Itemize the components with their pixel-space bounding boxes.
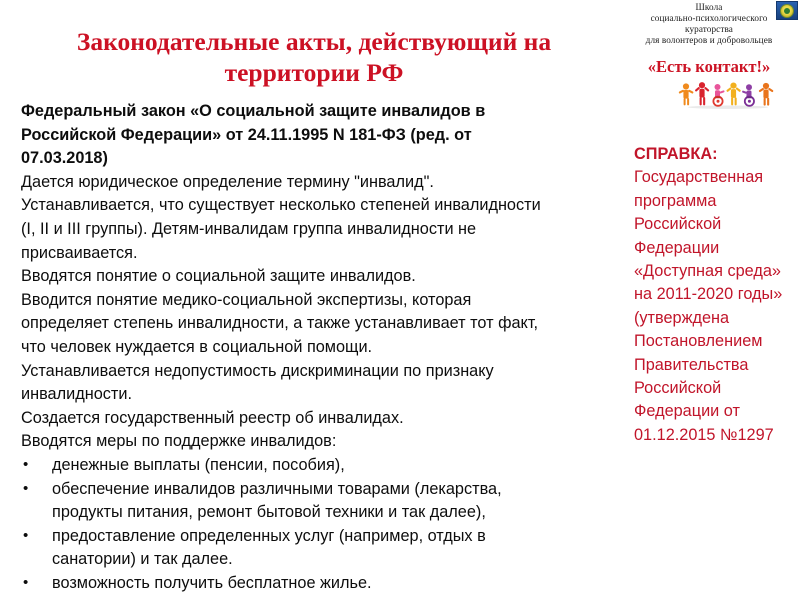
list-item: обеспечение инвалидов различными товарам… — [21, 478, 555, 525]
paragraph-4: Вводится понятие медико-социальной экспе… — [21, 289, 555, 360]
list-item: предоставление определенных услуг (напри… — [21, 525, 555, 572]
school-header-line-2: социально-психологического — [618, 13, 800, 24]
paragraph-2: Устанавливается, что существует нескольк… — [21, 194, 555, 265]
paragraph-7: Вводятся меры по поддержке инвалидов: — [21, 430, 555, 454]
school-header-line-3: кураторства — [618, 24, 800, 35]
slide: Школа социально-психологического куратор… — [0, 0, 800, 600]
body-content: Федеральный закон «О социальной защите и… — [21, 100, 555, 595]
law-heading: Федеральный закон «О социальной защите и… — [21, 100, 555, 171]
paragraph-1: Дается юридическое определение термину "… — [21, 171, 555, 195]
paragraph-6: Создается государственный реестр об инва… — [21, 407, 555, 431]
paragraph-3: Вводятся понятие о социальной защите инв… — [21, 265, 555, 289]
support-measures-list: денежные выплаты (пенсии, пособия), обес… — [21, 454, 555, 596]
page-title: Законодательные акты, действующий на тер… — [18, 26, 610, 88]
reference-label: СПРАВКА: — [634, 145, 718, 163]
list-item: возможность получить бесплатное жилье. — [21, 572, 555, 596]
people-group-illustration — [676, 79, 780, 109]
paragraph-5: Устанавливается недопустимость дискримин… — [21, 360, 555, 407]
school-emblem-icon — [776, 1, 798, 20]
school-header: Школа социально-психологического куратор… — [618, 2, 800, 45]
reference-note: СПРАВКА: Государственная программа Росси… — [634, 143, 794, 447]
list-item: денежные выплаты (пенсии, пособия), — [21, 454, 555, 478]
school-header-line-4: для волонтеров и добровольцев — [618, 35, 800, 46]
school-header-line-1: Школа — [618, 2, 800, 13]
emblem-circle-icon — [780, 4, 794, 18]
school-slogan: «Есть контакт!» — [618, 57, 800, 77]
reference-text: Государственная программа Российской Фед… — [634, 168, 782, 443]
